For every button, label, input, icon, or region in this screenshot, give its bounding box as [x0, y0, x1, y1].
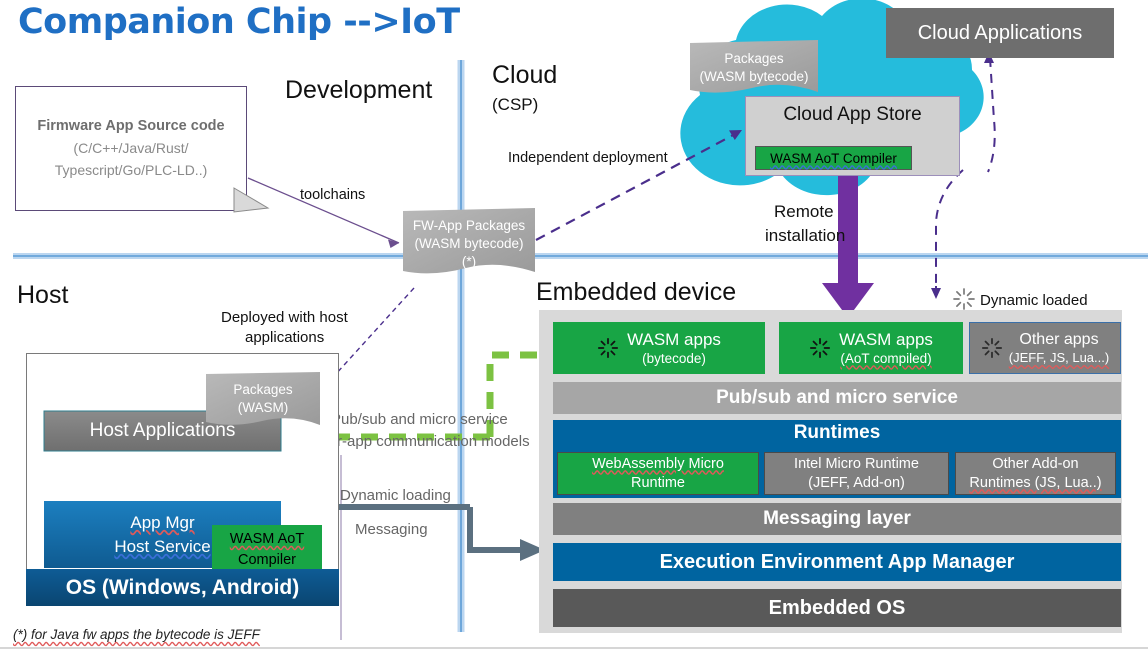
embedded-os-box[interactable]: Embedded OS: [553, 589, 1121, 627]
runtime-other-line2: Runtimes (JS, Lua..): [969, 474, 1101, 493]
footnote: (*) for Java fw apps the bytecode is JEF…: [13, 627, 260, 642]
embedded-runtimes-title-label: Runtimes: [794, 422, 881, 444]
runtime-intel-line1: Intel Micro Runtime: [794, 455, 919, 474]
embedded-exec-env-app-manager[interactable]: Execution Environment App Manager: [553, 543, 1121, 581]
spinner-icon-app3: [981, 337, 1003, 359]
runtime-wamr-line2: Runtime: [631, 474, 685, 493]
runtime-other-line1: Other Add-on: [992, 455, 1078, 474]
embedded-app-other[interactable]: Other apps (JEFF, JS, Lua...): [969, 322, 1121, 374]
embedded-app2-sub: (AoT compiled): [839, 350, 933, 367]
host-os-box[interactable]: OS (Windows, Android): [26, 569, 339, 606]
spinner-icon-app1: [597, 337, 619, 359]
slide-canvas: Companion Chip -->IoT Development Cloud …: [0, 0, 1148, 653]
embedded-runtimes-title: Runtimes: [553, 420, 1121, 446]
embedded-app1-name: WASM apps: [627, 330, 721, 350]
embedded-exec-env-label: Execution Environment App Manager: [660, 551, 1015, 574]
embedded-os-label: Embedded OS: [769, 597, 906, 620]
runtime-wamr-line1: WebAssembly Micro: [592, 455, 724, 474]
host-os-label: OS (Windows, Android): [66, 576, 300, 600]
embedded-app2-name: WASM apps: [839, 330, 933, 350]
runtime-intel-micro[interactable]: Intel Micro Runtime (JEFF, Add-on): [764, 452, 949, 495]
embedded-app-wasm-bytecode[interactable]: WASM apps (bytecode): [553, 322, 765, 374]
footnote-text: (*) for Java fw apps the bytecode is JEF…: [13, 627, 260, 642]
embedded-pubsub-bar[interactable]: Pub/sub and micro service: [553, 382, 1121, 414]
embedded-app1-sub: (bytecode): [627, 350, 721, 367]
spinner-icon-app2: [809, 337, 831, 359]
runtime-wamr[interactable]: WebAssembly Micro Runtime: [557, 452, 759, 495]
embedded-app3-name: Other apps: [1009, 330, 1109, 350]
embedded-app-wasm-aot[interactable]: WASM apps (AoT compiled): [779, 322, 963, 374]
runtime-other-addon[interactable]: Other Add-on Runtimes (JS, Lua..): [955, 452, 1116, 495]
embedded-pubsub-label: Pub/sub and micro service: [716, 387, 958, 409]
runtime-intel-line2: (JEFF, Add-on): [808, 474, 905, 493]
embedded-app3-sub: (JEFF, JS, Lua...): [1009, 350, 1109, 366]
embedded-messaging-layer[interactable]: Messaging layer: [553, 503, 1121, 535]
embedded-messaging-label: Messaging layer: [763, 508, 911, 530]
